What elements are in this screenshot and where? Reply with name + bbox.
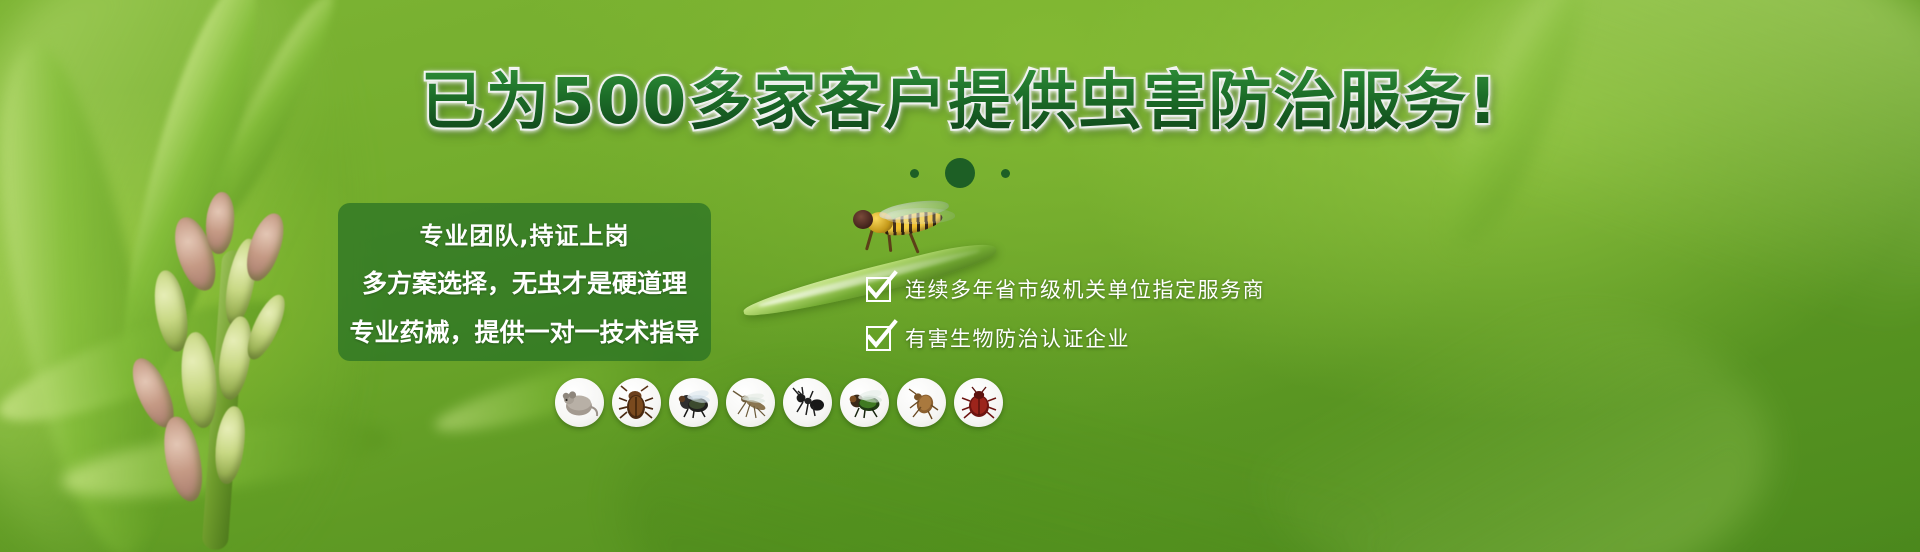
hoverfly-insect — [845, 196, 961, 252]
checkbox-checked-icon — [866, 326, 891, 351]
pest-control-banner: 已为500多家客户提供虫害防治服务! 已为500多家客户提供虫害防治服务! 专业… — [0, 0, 1920, 552]
checklist-item: 连续多年省市级机关单位指定服务商 — [866, 274, 1265, 304]
info-panel-line-3: 专业药械，提供一对一技术指导 — [350, 313, 700, 349]
dot-small-left — [910, 169, 919, 178]
decorative-dots — [0, 158, 1920, 188]
headline: 已为500多家客户提供虫害防治服务! 已为500多家客户提供虫害防治服务! — [0, 70, 1920, 133]
info-panel-line-2: 多方案选择，无虫才是硬道理 — [362, 264, 687, 300]
checklist: 连续多年省市级机关单位指定服务商 有害生物防治认证企业 — [866, 274, 1265, 353]
checklist-item: 有害生物防治认证企业 — [866, 323, 1265, 353]
dot-small-right — [1001, 169, 1010, 178]
blowfly-icon[interactable] — [840, 378, 889, 427]
cockroach-icon[interactable] — [612, 378, 661, 427]
fly-icon[interactable] — [669, 378, 718, 427]
info-panel: 专业团队,持证上岗 多方案选择，无虫才是硬道理 专业药械，提供一对一技术指导 — [338, 203, 711, 361]
flea-icon[interactable] — [897, 378, 946, 427]
mosquito-icon[interactable] — [726, 378, 775, 427]
pest-icon-row — [555, 378, 1003, 427]
info-panel-line-1: 专业团队,持证上岗 — [419, 216, 629, 251]
checkbox-checked-icon — [866, 277, 891, 302]
bedbug-icon[interactable] — [954, 378, 1003, 427]
dot-large-center — [945, 158, 975, 188]
checklist-item-label: 连续多年省市级机关单位指定服务商 — [905, 274, 1265, 304]
headline-text: 已为500多家客户提供虫害防治服务! — [421, 70, 1499, 133]
mouse-icon[interactable] — [555, 378, 604, 427]
checklist-item-label: 有害生物防治认证企业 — [905, 323, 1130, 353]
ant-icon[interactable] — [783, 378, 832, 427]
